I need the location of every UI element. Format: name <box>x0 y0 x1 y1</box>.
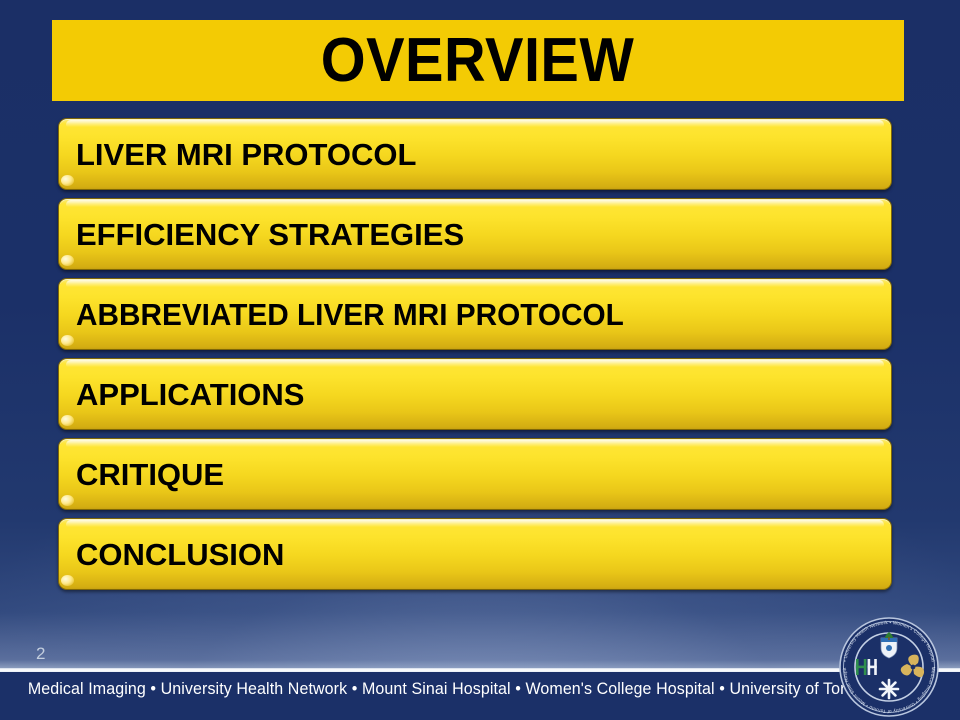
agenda-item-efficiency-strategies[interactable]: EFFICIENCY STRATEGIES <box>58 198 892 270</box>
agenda-item-label: CRITIQUE <box>76 459 224 490</box>
title-banner: OVERVIEW <box>52 20 904 101</box>
agenda-item-conclusion[interactable]: CONCLUSION <box>58 518 892 590</box>
agenda-list: LIVER MRI PROTOCOL EFFICIENCY STRATEGIES… <box>58 118 892 590</box>
footer-affiliations: Medical Imaging • University Health Netw… <box>14 680 892 699</box>
agenda-item-label: APPLICATIONS <box>76 379 305 410</box>
agenda-item-applications[interactable]: APPLICATIONS <box>58 358 892 430</box>
agenda-item-critique[interactable]: CRITIQUE <box>58 438 892 510</box>
slide-number: 2 <box>36 645 45 662</box>
slide-canvas: OVERVIEW LIVER MRI PROTOCOL EFFICIENCY S… <box>0 0 960 720</box>
agenda-item-liver-mri-protocol[interactable]: LIVER MRI PROTOCOL <box>58 118 892 190</box>
agenda-item-label: EFFICIENCY STRATEGIES <box>76 219 464 250</box>
agenda-item-label: CONCLUSION <box>76 539 284 570</box>
institution-logo-icon: • University Health Network • Women's Co… <box>828 617 950 717</box>
page-title: OVERVIEW <box>321 30 634 92</box>
agenda-item-label: ABBREVIATED LIVER MRI PROTOCOL <box>76 299 624 330</box>
agenda-item-label: LIVER MRI PROTOCOL <box>76 139 416 170</box>
agenda-item-abbreviated-liver-mri-protocol[interactable]: ABBREVIATED LIVER MRI PROTOCOL <box>58 278 892 350</box>
